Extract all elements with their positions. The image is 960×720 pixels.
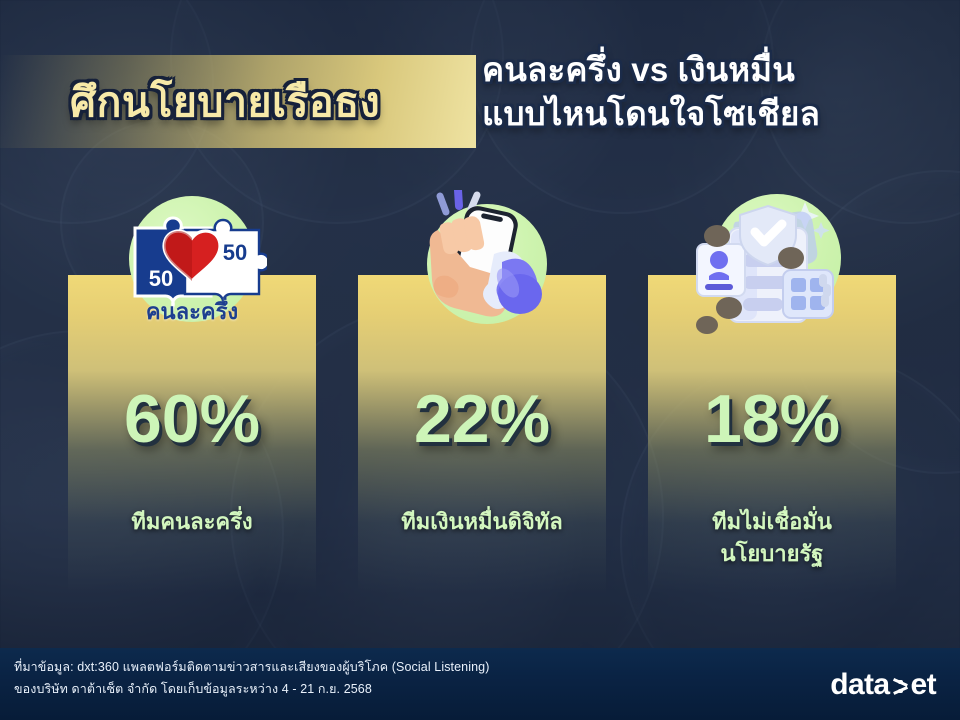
stat-label-1: ทีมคนละครึ่ง	[62, 506, 322, 538]
dataxet-logo[interactable]: data et	[830, 668, 936, 702]
svg-text:50: 50	[149, 266, 173, 291]
stat-value-3: 18%	[648, 385, 896, 453]
verified-documents-icon	[687, 192, 857, 342]
infographic-canvas: ศึกนโยบายเรือธง คนละครึ่ง vs เงินหมื่น แ…	[0, 0, 960, 720]
source-note-line-1: ที่มาข้อมูล: dxt:360 แพลตฟอร์มติดตามข่าว…	[14, 657, 714, 679]
source-note-line-2: ของบริษัท ดาต้าเซ็ต จำกัด โดยเก็บข้อมูลร…	[14, 679, 714, 701]
card-2-icon-area	[357, 190, 607, 330]
stat-value-1: 60%	[68, 385, 316, 453]
stat-label-3: ทีมไม่เชื่อมั่น นโยบายรัฐ	[642, 506, 902, 570]
stat-label-2: ทีมเงินหมื่นดิจิทัล	[352, 506, 612, 538]
stat-label-2-line-1: ทีมเงินหมื่นดิจิทัล	[352, 506, 612, 538]
stat-card-group: 50 50 คนละครึ่ง	[0, 0, 960, 720]
card-1-icon-area: 50 50 คนละครึ่ง	[67, 190, 317, 330]
stat-label-3-line-2: นโยบายรัฐ	[642, 538, 902, 570]
logo-text-suffix: et	[911, 668, 936, 702]
svg-text:50: 50	[223, 240, 247, 265]
logo-text-prefix: data	[830, 668, 889, 702]
stat-label-1-line-1: ทีมคนละครึ่ง	[62, 506, 322, 538]
stat-label-3-line-1: ทีมไม่เชื่อมั่น	[642, 506, 902, 538]
card-1-icon-caption: คนละครึ่ง	[146, 294, 238, 329]
footer-bar: ที่มาข้อมูล: dxt:360 แพลตฟอร์มติดตามข่าว…	[0, 648, 960, 720]
logo-x-glyph-icon	[890, 670, 911, 700]
hand-holding-phone-icon	[402, 190, 562, 345]
stat-value-2: 22%	[358, 385, 606, 453]
card-3-icon-area	[647, 190, 897, 330]
source-note: ที่มาข้อมูล: dxt:360 แพลตฟอร์มติดตามข่าว…	[14, 657, 714, 700]
